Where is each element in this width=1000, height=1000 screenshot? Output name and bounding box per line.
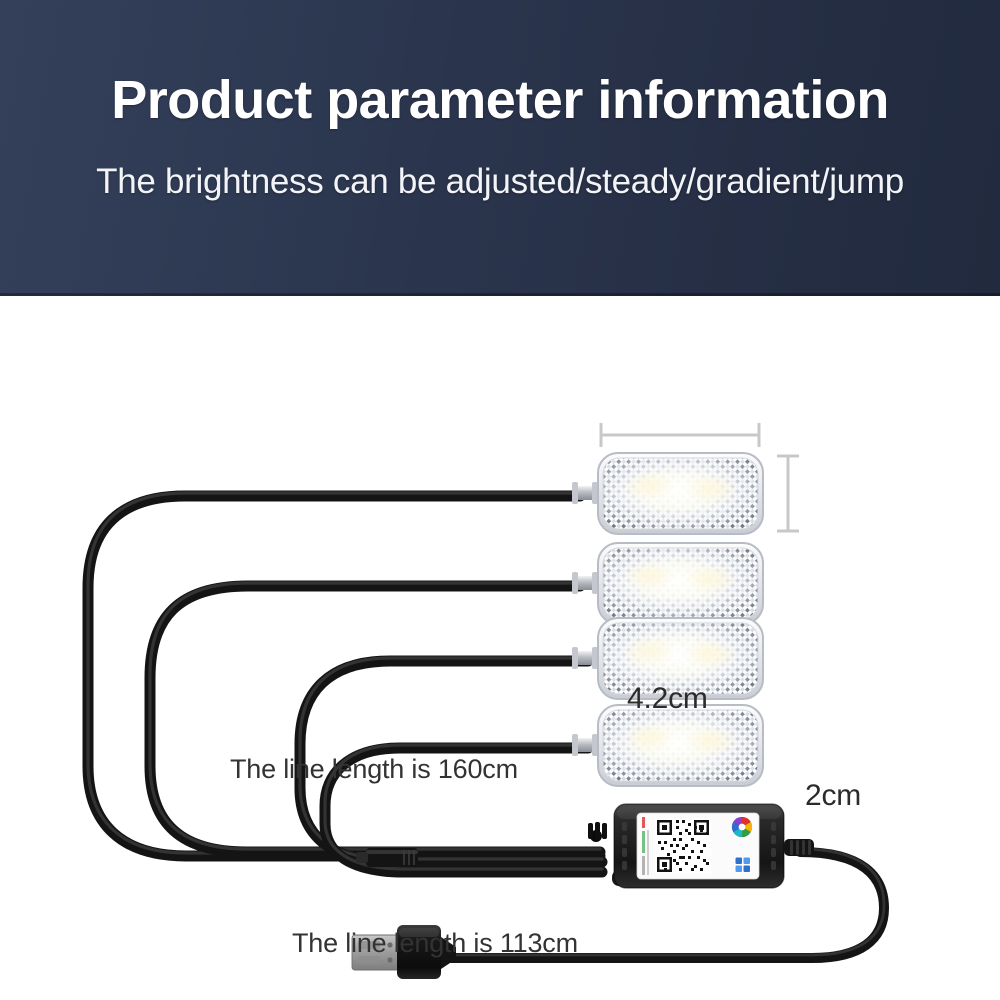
bluetooth-controller[interactable]: [612, 804, 814, 888]
led-panel-group: [572, 453, 763, 786]
dimension-width-line: [600, 423, 760, 447]
strain-relief-left: [588, 822, 607, 840]
page-subtitle: The brightness can be adjusted/steady/gr…: [0, 162, 1000, 202]
panel-connector-1: [572, 482, 598, 504]
led-panel-1: [572, 453, 763, 534]
diagram-illustration: [0, 296, 1000, 1000]
panel-connector-2: [572, 572, 598, 594]
header-banner: Product parameter information The bright…: [0, 0, 1000, 296]
qr-code-icon: [655, 818, 711, 874]
cable-length-label-160cm: The line length is 160cm: [230, 754, 518, 785]
led-panel-2: [572, 543, 763, 624]
cable-length-label-113cm: The line length is 113cm: [292, 928, 578, 959]
dimension-width-label: 4.2cm: [627, 682, 708, 716]
strain-relief-right: [784, 839, 814, 856]
cable-to-panel-1: [88, 496, 600, 856]
rgb-color-wheel-icon: [732, 817, 752, 837]
product-diagram: 4.2cm 2cm The line length is 160cm The l…: [0, 296, 1000, 1000]
dimension-height-label: 2cm: [805, 779, 861, 813]
dimension-height-line: [777, 455, 799, 532]
cable-to-panel-2: [150, 586, 600, 852]
bluetooth-badge-icon: [734, 856, 751, 873]
product-infographic: Product parameter information The bright…: [0, 0, 1000, 1000]
led-panel-4: [572, 705, 763, 786]
page-title: Product parameter information: [0, 72, 1000, 129]
